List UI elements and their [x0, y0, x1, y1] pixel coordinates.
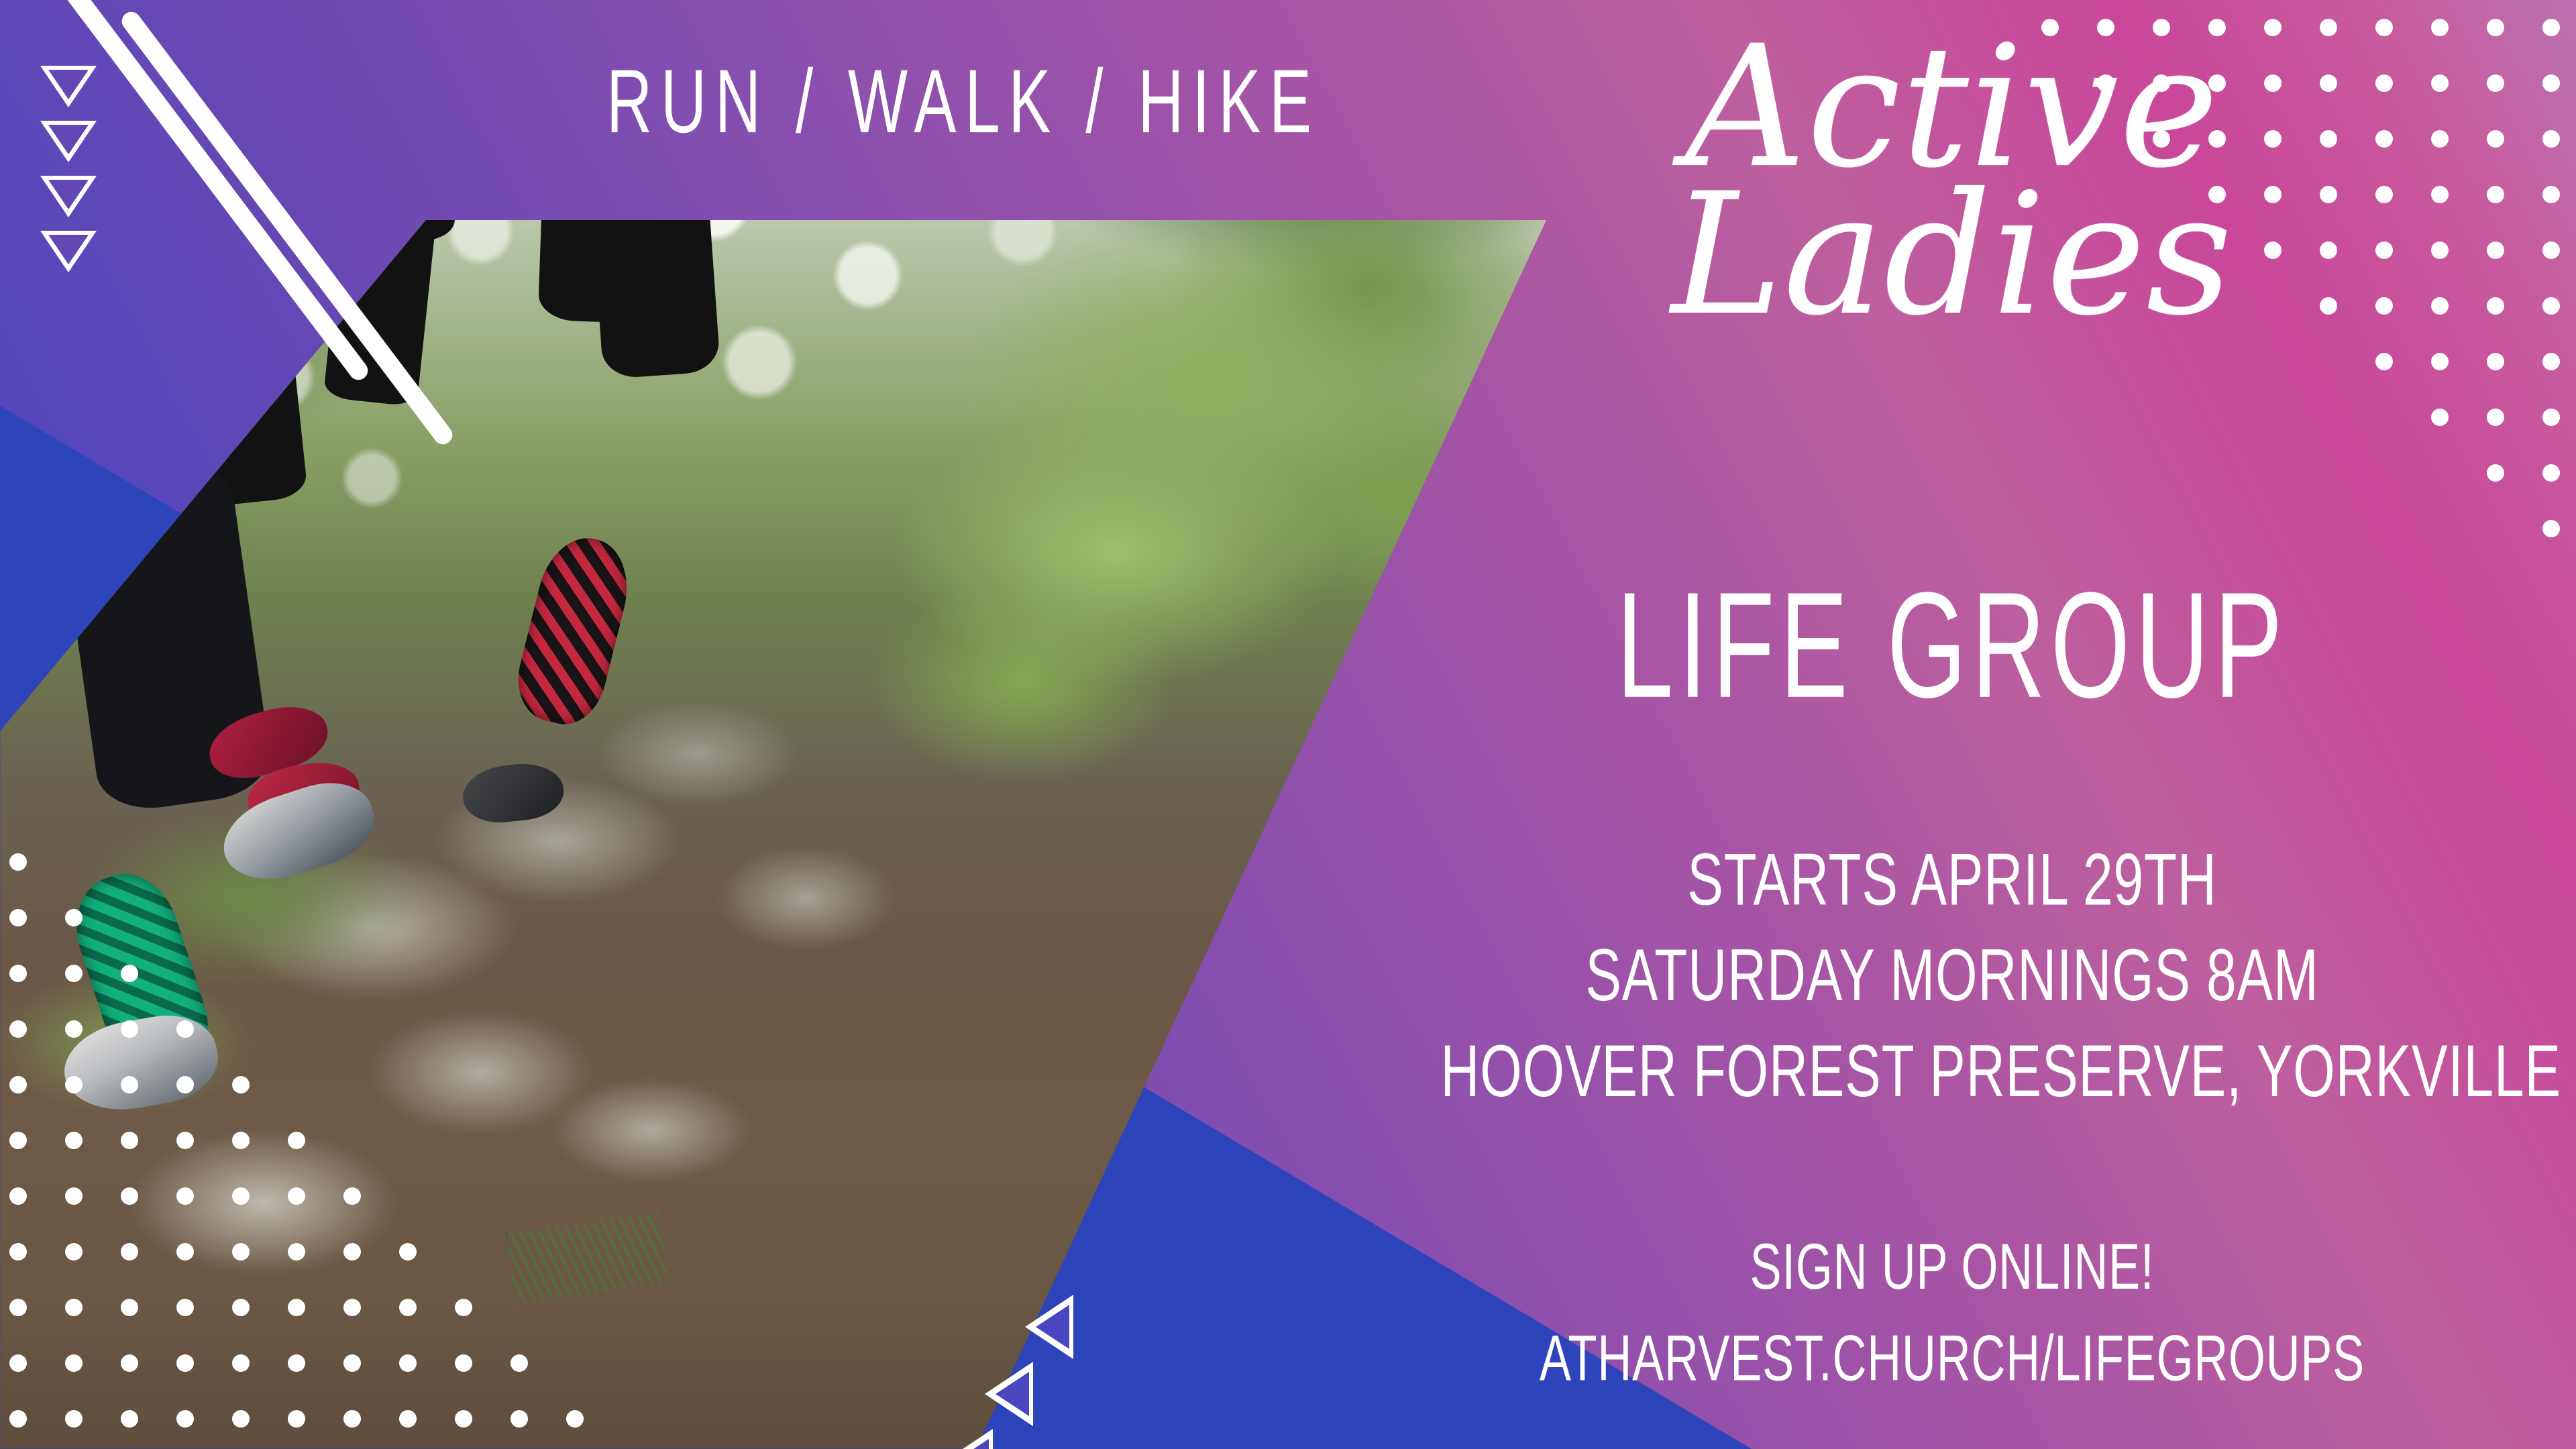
signup-callout: SIGN UP ONLINE!: [1440, 1221, 2463, 1313]
decorative-dot: [399, 1299, 417, 1316]
decorative-dot: [9, 1076, 27, 1093]
decorative-dot: [121, 1132, 138, 1149]
poster-canvas: RUN / WALK / HIKE Active Ladies LIFE GRO…: [0, 0, 2576, 1449]
decorative-dot: [65, 909, 83, 926]
decorative-dot: [232, 1299, 250, 1316]
triangle-left-icon: [985, 1362, 1033, 1426]
triangle-left-icon: [1025, 1295, 1073, 1359]
decorative-dot: [121, 1020, 138, 1038]
decorative-dot: [511, 1354, 528, 1372]
decorative-dot: [232, 1354, 250, 1372]
decorative-dot: [65, 1020, 83, 1038]
triangle-down-icon: [40, 66, 97, 107]
decorative-dot: [566, 1410, 584, 1428]
diagonal-line-icon: [118, 8, 456, 448]
decorative-dot: [121, 1243, 138, 1260]
decorative-dot: [65, 1354, 83, 1372]
page-title: Active Ladies: [1328, 34, 2576, 329]
decorative-dot: [9, 1020, 27, 1038]
decorative-dot: [65, 965, 83, 982]
decorative-dot: [399, 1354, 417, 1372]
leg-silhouette: [343, 0, 456, 244]
decorative-dot: [65, 1187, 83, 1205]
decorative-dot: [455, 1354, 472, 1372]
decorative-dot: [121, 1076, 138, 1093]
decorative-dot: [343, 1299, 361, 1316]
decorative-dot: [288, 1354, 305, 1372]
decorative-dot: [121, 1354, 138, 1372]
triangle-down-icon: [40, 121, 97, 162]
decorative-dot: [455, 1299, 472, 1316]
decorative-dot: [9, 853, 27, 871]
decorative-dot: [232, 1410, 250, 1428]
decorative-dot: [455, 1410, 472, 1428]
event-details: STARTS APRIL 29TH SATURDAY MORNINGS 8AM …: [1440, 832, 2463, 1119]
decorative-dot: [65, 1299, 83, 1316]
triangle-down-icon: [40, 176, 97, 217]
decorative-dot: [511, 1410, 528, 1428]
decorative-dot: [399, 1243, 417, 1260]
signup-block: SIGN UP ONLINE! ATHARVEST.CHURCH/LIFEGRO…: [1440, 1221, 2463, 1405]
decorative-dot: [232, 1132, 250, 1149]
decorative-dot: [9, 1132, 27, 1149]
decorative-dot: [232, 1076, 250, 1093]
decorative-dot: [65, 1410, 83, 1428]
decorative-dot: [9, 1410, 27, 1428]
decorative-dot: [121, 1299, 138, 1316]
decorative-dot: [9, 1187, 27, 1205]
kicker-text: RUN / WALK / HIKE: [606, 50, 1272, 154]
text-column: Active Ladies LIFE GROUP STARTS APRIL 29…: [1328, 0, 2576, 1449]
decorative-dot: [121, 965, 138, 982]
decorative-dot: [343, 1187, 361, 1205]
decorative-dot: [176, 1243, 194, 1260]
decorative-dot: [65, 1076, 83, 1093]
decorative-dot: [9, 965, 27, 982]
decorative-dot: [232, 1243, 250, 1260]
decorative-dot: [288, 1299, 305, 1316]
decorative-dot: [343, 1410, 361, 1428]
decorative-dot: [288, 1132, 305, 1149]
decorative-dot: [176, 1299, 194, 1316]
decorative-dot: [176, 1076, 194, 1093]
decorative-dot: [9, 1243, 27, 1260]
triangle-down-icon: [40, 231, 97, 272]
detail-line-schedule: SATURDAY MORNINGS 8AM: [1440, 928, 2463, 1024]
decorative-dot: [343, 1243, 361, 1260]
decorative-dot: [9, 1299, 27, 1316]
triangle-left-icon: [945, 1429, 993, 1449]
subtitle: LIFE GROUP: [1453, 570, 2451, 720]
decorative-dot: [176, 1410, 194, 1428]
detail-line-location: HOOVER FOREST PRESERVE, YORKVILLE: [1440, 1023, 2463, 1119]
decorative-dot: [176, 1354, 194, 1372]
decorative-dot: [176, 1187, 194, 1205]
detail-line-start-date: STARTS APRIL 29TH: [1440, 832, 2463, 928]
decorative-dot: [9, 1354, 27, 1372]
decorative-dot: [176, 1132, 194, 1149]
decorative-dot: [232, 1187, 250, 1205]
decorative-dot: [65, 1243, 83, 1260]
decorative-dot: [343, 1354, 361, 1372]
decorative-dot: [121, 1410, 138, 1428]
decorative-dot: [288, 1243, 305, 1260]
decorative-dot: [65, 1132, 83, 1149]
decorative-dot: [288, 1410, 305, 1428]
decorative-dot: [176, 1020, 194, 1038]
decorative-dot: [9, 909, 27, 926]
signup-url[interactable]: ATHARVEST.CHURCH/LIFEGROUPS: [1440, 1313, 2463, 1405]
decorative-dot: [399, 1410, 417, 1428]
decorative-dot: [121, 1187, 138, 1205]
decorative-dot: [288, 1187, 305, 1205]
diagonal-line-icon: [50, 0, 372, 384]
